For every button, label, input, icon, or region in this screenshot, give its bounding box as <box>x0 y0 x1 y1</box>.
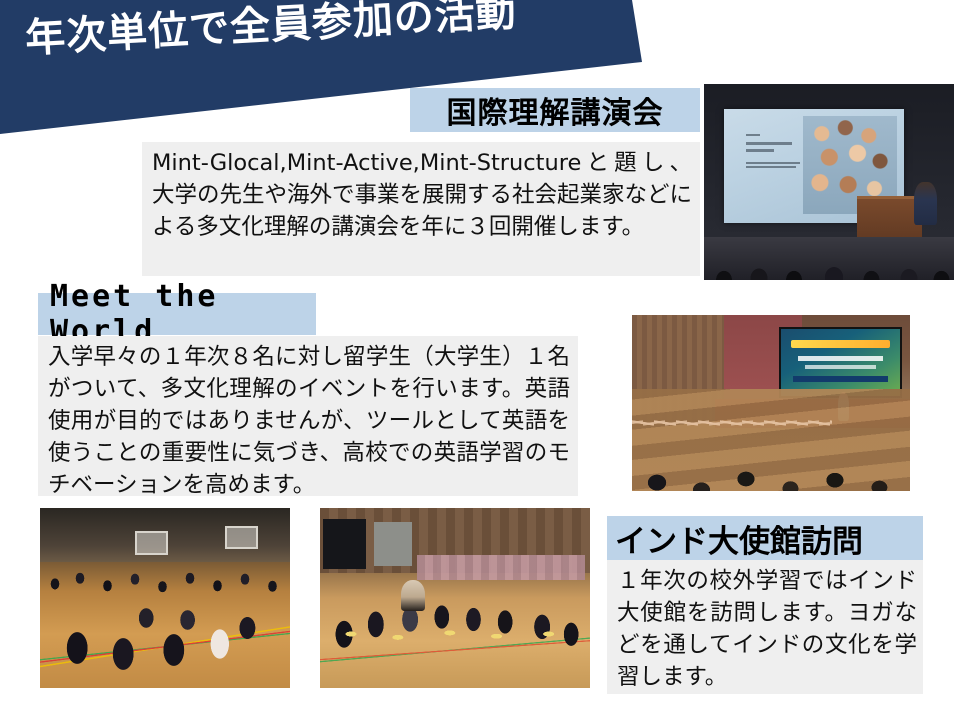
lecture-hall-photo-inner <box>704 84 954 280</box>
international-student-figure <box>401 580 425 611</box>
slide-text-line <box>746 149 775 152</box>
section-heading-meet-the-world: Meet the World <box>38 293 316 335</box>
audience-heads <box>704 237 954 280</box>
gym-small-group-photo-inner <box>320 508 590 688</box>
screen-subtitle-bar <box>805 365 876 369</box>
student-heads <box>632 431 910 491</box>
section-heading-kokusai-rikai: 国際理解講演会 <box>410 88 700 132</box>
screen-subtitle-bar <box>798 356 883 361</box>
section-heading-india-embassy: インド大使館訪問 <box>607 516 923 560</box>
basketball-hoop-icon <box>225 526 258 549</box>
section-body-india-embassy: １年次の校外学習ではインド大使館を訪問します。ヨガなどを通してインドの文化を学習… <box>607 560 923 694</box>
screen-footer-bar <box>793 376 888 382</box>
section-body-meet-the-world: 入学早々の１年次８名に対し留学生（大学生）１名がついて、多文化理解のイベントを行… <box>38 336 578 496</box>
slide-canvas: 年次単位で全員参加の活動 国際理解講演会 Mint-Glocal,Mint-Ac… <box>0 0 960 720</box>
screen-title-bar <box>791 340 890 348</box>
lecture-hall-photo <box>704 84 954 280</box>
slide-text-line <box>746 162 800 164</box>
india-embassy-photo-inner <box>632 315 910 491</box>
speaker-figure <box>914 182 937 225</box>
gym-large-circle-photo-inner <box>40 508 290 688</box>
gym-small-group-photo <box>320 508 590 688</box>
gym-large-circle-photo <box>40 508 290 688</box>
slide-text-line <box>746 166 796 168</box>
india-embassy-photo <box>632 315 910 491</box>
worksheet-papers <box>325 620 584 649</box>
slide-text-line <box>746 142 793 145</box>
section-body-kokusai-rikai: Mint-Glocal,Mint-Active,Mint-Structureと題… <box>142 142 700 276</box>
foreground-student-circle <box>45 584 275 685</box>
slide-text-line <box>746 134 760 136</box>
